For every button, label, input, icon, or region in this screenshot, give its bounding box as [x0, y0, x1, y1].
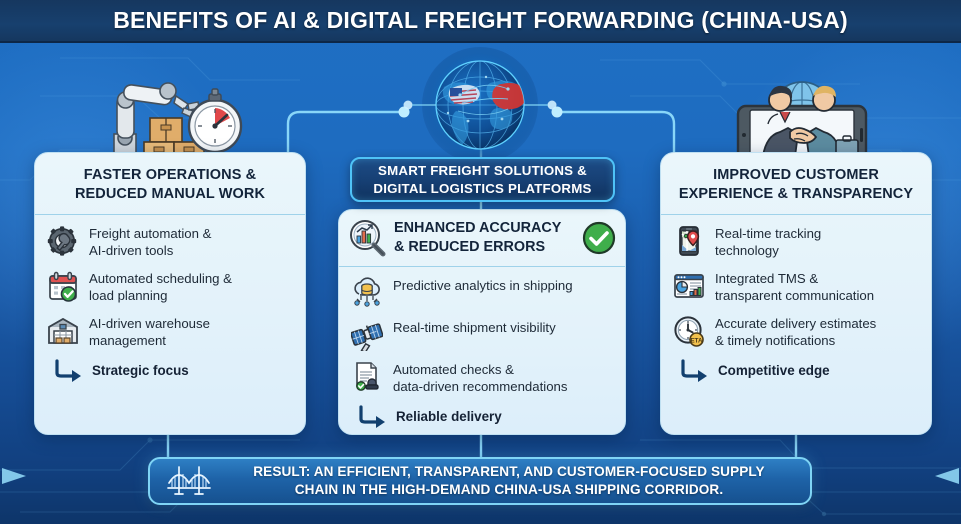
arrow-edge-left — [2, 468, 26, 484]
list-item-line2: & timely notifications — [715, 333, 835, 348]
list-item-line2: data-driven recommendations — [393, 379, 567, 394]
title-bar: BENEFITS OF AI & DIGITAL FREIGHT FORWARD… — [0, 0, 961, 43]
result-banner[interactable]: RESULT: AN EFFICIENT, TRANSPARENT, AND C… — [148, 457, 812, 505]
globe-graphic — [398, 47, 563, 165]
card-right-footer: Competitive edge — [673, 359, 919, 383]
calendar-check-icon — [47, 270, 79, 302]
corner-arrow-icon — [357, 405, 387, 429]
connected-globe-usa-china-icon — [398, 47, 563, 165]
smartphone-map-pin-icon — [673, 225, 705, 257]
list-item-line1: Freight automation & — [89, 226, 211, 241]
corner-arrow-icon — [53, 359, 83, 383]
card-right-title-line1: IMPROVED CUSTOMER — [713, 167, 879, 183]
center-badge-line1: SMART FREIGHT SOLUTIONS & — [378, 163, 587, 178]
list-item-line1: Real-time shipment visibility — [393, 320, 556, 335]
list-item-line1: Automated scheduling & — [89, 271, 232, 286]
card-center-items: Predictive analytics in shipping — [339, 267, 625, 435]
list-item-line1: Real-time tracking — [715, 226, 821, 241]
card-center-header: ENHANCED ACCURACY & REDUCED ERRORS — [339, 210, 625, 267]
card-left-title-line2: REDUCED MANUAL WORK — [75, 186, 265, 202]
page-title: BENEFITS OF AI & DIGITAL FREIGHT FORWARD… — [113, 7, 848, 34]
clock-eta-icon: ETA — [673, 315, 705, 347]
green-check-circle-icon — [581, 220, 617, 256]
list-item: Real-time shipment visibility — [351, 318, 613, 351]
list-item: Predictive analytics in shipping — [351, 276, 613, 309]
list-item-line2: load planning — [89, 288, 167, 303]
svg-text:ETA: ETA — [691, 337, 703, 344]
card-center-title-line1: ENHANCED ACCURACY — [394, 220, 561, 236]
list-item: Integrated TMS & transparent communicati… — [673, 269, 919, 305]
arrow-edge-right — [935, 468, 959, 484]
center-badge[interactable]: SMART FREIGHT SOLUTIONS & DIGITAL LOGIST… — [350, 157, 615, 202]
warehouse-icon — [47, 315, 79, 347]
list-item-line1: AI-driven warehouse — [89, 316, 210, 331]
list-item-line2: management — [89, 333, 166, 348]
card-center-footer-label: Reliable delivery — [396, 409, 502, 424]
list-item: AI-driven warehouse management — [47, 314, 293, 350]
card-center-footer: Reliable delivery — [351, 405, 613, 429]
list-item: Automated checks & data-driven recommend… — [351, 360, 613, 396]
list-item: Automated scheduling & load planning — [47, 269, 293, 305]
cloud-database-icon — [351, 277, 383, 309]
card-improved-customer-experience[interactable]: IMPROVED CUSTOMER EXPERIENCE & TRANSPARE… — [660, 152, 932, 435]
list-item-line1: Predictive analytics in shipping — [393, 278, 573, 293]
result-banner-line2: CHAIN IN THE HIGH-DEMAND CHINA-USA SHIPP… — [295, 482, 723, 497]
card-right-title-line2: EXPERIENCE & TRANSPARENCY — [679, 186, 913, 202]
card-right-footer-label: Competitive edge — [718, 363, 830, 378]
list-item-line2: AI-driven tools — [89, 243, 173, 258]
satellite-icon — [351, 319, 383, 351]
card-center-title-line2: & REDUCED ERRORS — [394, 239, 545, 255]
list-item-line1: Automated checks & — [393, 362, 514, 377]
card-left-header: FASTER OPERATIONS & REDUCED MANUAL WORK — [35, 153, 305, 215]
card-enhanced-accuracy[interactable]: ENHANCED ACCURACY & REDUCED ERRORS — [338, 209, 626, 435]
list-item: Freight automation & AI-driven tools — [47, 224, 293, 260]
card-left-footer: Strategic focus — [47, 359, 293, 383]
list-item-line1: Integrated TMS & — [715, 271, 818, 286]
list-item-line2: transparent communication — [715, 288, 874, 303]
list-item-line1: Accurate delivery estimates — [715, 316, 876, 331]
center-badge-line2: DIGITAL LOGISTICS PLATFORMS — [373, 181, 591, 196]
card-faster-operations[interactable]: FASTER OPERATIONS & REDUCED MANUAL WORK — [34, 152, 306, 435]
list-item: ETA Accurate delivery estimates & timely… — [673, 314, 919, 350]
card-left-items: Freight automation & AI-driven tools — [35, 215, 305, 388]
list-item: Real-time tracking technology — [673, 224, 919, 260]
suspension-bridge-icon — [166, 463, 212, 499]
document-stamp-icon — [351, 361, 383, 393]
card-right-header: IMPROVED CUSTOMER EXPERIENCE & TRANSPARE… — [661, 153, 931, 215]
corner-arrow-icon — [679, 359, 709, 383]
list-item-line2: technology — [715, 243, 779, 258]
card-left-title-line1: FASTER OPERATIONS & — [84, 167, 256, 183]
gear-wrench-icon — [47, 225, 79, 257]
card-left-footer-label: Strategic focus — [92, 363, 189, 378]
dashboard-analytics-icon — [673, 270, 705, 302]
card-right-items: Real-time tracking technology — [661, 215, 931, 388]
magnifier-bar-chart-icon — [347, 218, 387, 258]
infographic-canvas: BENEFITS OF AI & DIGITAL FREIGHT FORWARD… — [0, 0, 961, 524]
result-banner-line1: RESULT: AN EFFICIENT, TRANSPARENT, AND C… — [253, 464, 764, 479]
